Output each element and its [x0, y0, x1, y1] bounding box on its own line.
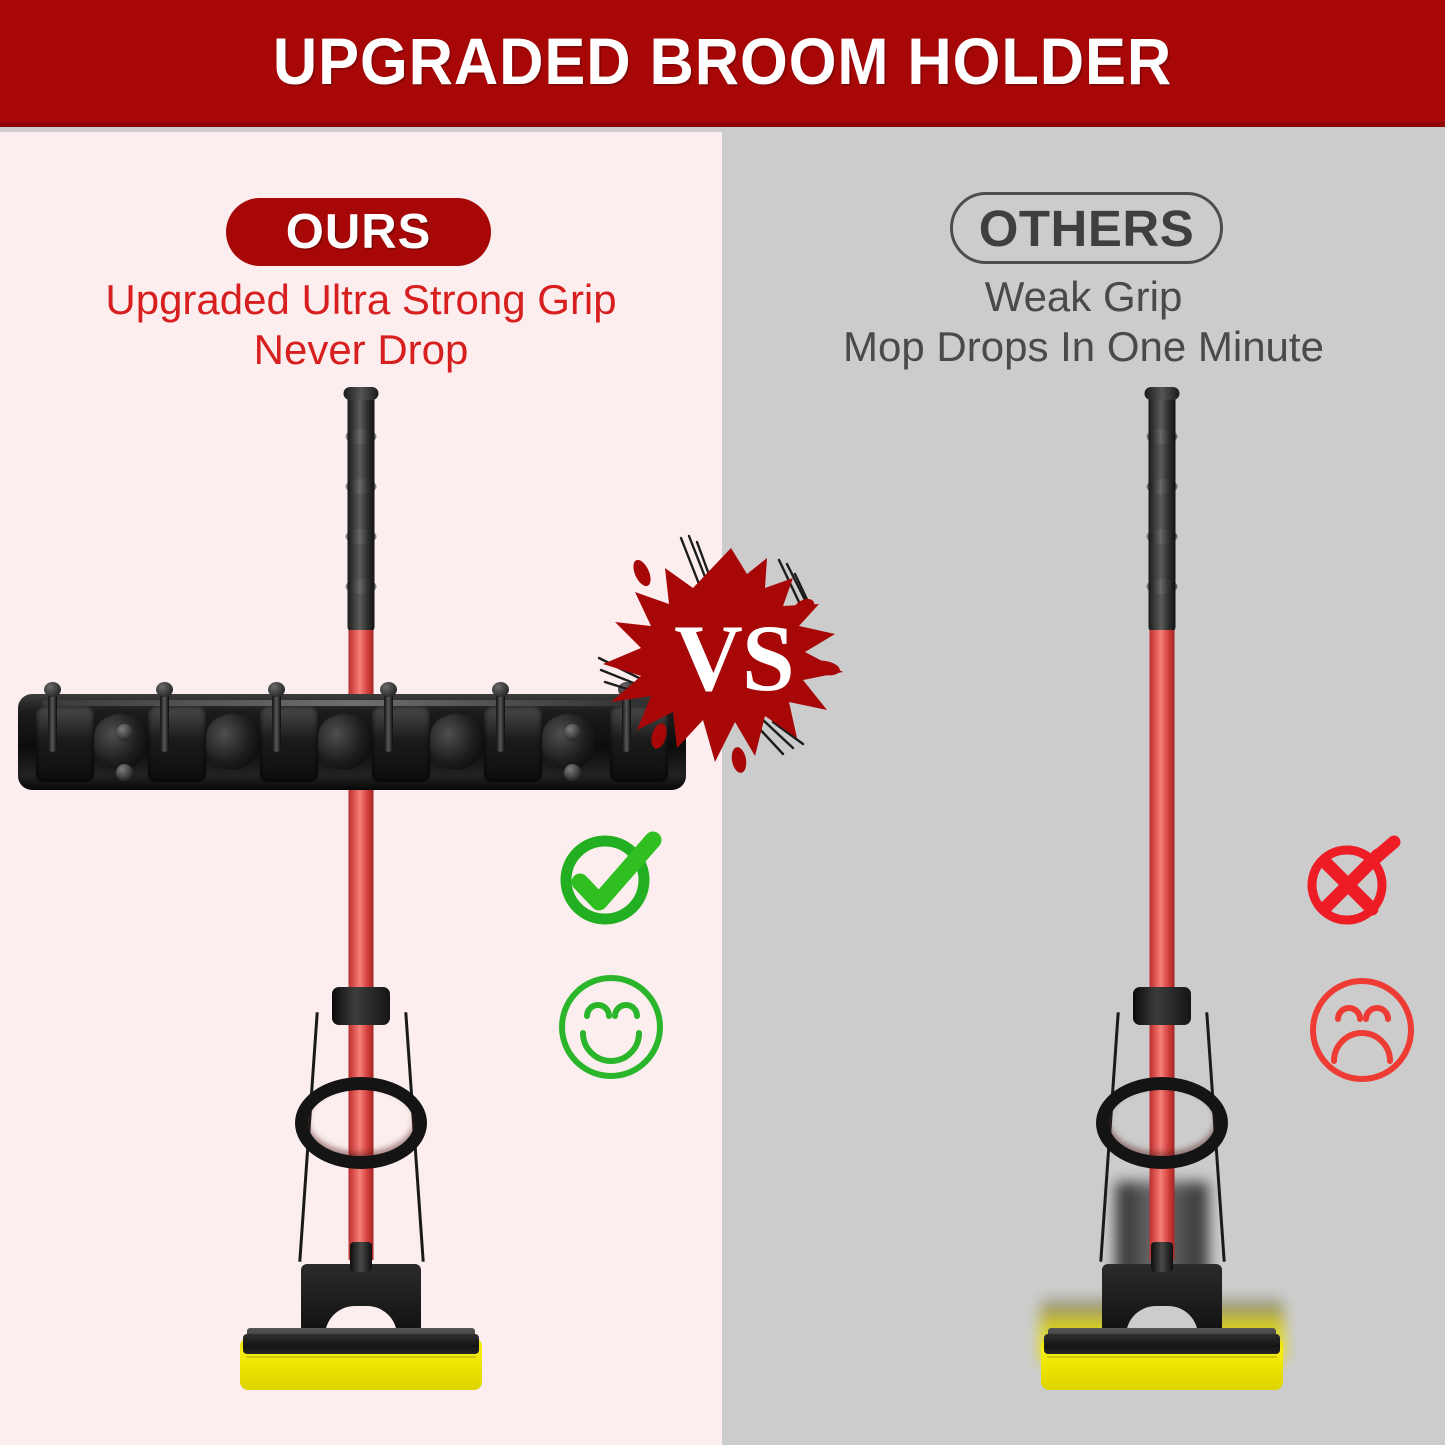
mop-head-bracket: [350, 1242, 372, 1272]
cross-circle-icon: [1302, 832, 1402, 932]
subtitle-others: Weak Grip Mop Drops In One Minute: [722, 272, 1445, 372]
vs-label: VS: [597, 530, 865, 782]
subtitle-others-line2: Mop Drops In One Minute: [722, 322, 1445, 372]
mop-grip: [1149, 387, 1176, 632]
badge-ours-label: OURS: [286, 204, 432, 260]
mop-head: [1012, 1242, 1312, 1417]
check-circle-icon: [552, 822, 662, 932]
mop-head-bracket: [1151, 1242, 1173, 1272]
black-broom-holder-rail: [18, 680, 686, 795]
mop-squeegee: [1044, 1334, 1280, 1354]
subtitle-others-line1: Weak Grip: [722, 272, 1445, 322]
subtitle-ours: Upgraded Ultra Strong Grip Never Drop: [0, 275, 722, 375]
page-title: UPGRADED BROOM HOLDER: [273, 23, 1172, 99]
mop-grip: [348, 387, 375, 632]
badge-others: OTHERS: [950, 192, 1223, 264]
badge-others-label: OTHERS: [979, 199, 1195, 258]
mop-collar: [1133, 987, 1191, 1025]
happy-face-icon: [551, 967, 671, 1087]
mop-squeegee: [243, 1334, 479, 1354]
subtitle-ours-line2: Never Drop: [0, 325, 722, 375]
product-comparison-infographic: UPGRADED BROOM HOLDER OURS Upgraded Ultr…: [0, 0, 1445, 1445]
mop-ours: [211, 387, 511, 1417]
mop-others: [1012, 387, 1312, 1417]
comparison-panels: OURS Upgraded Ultra Strong Grip Never Dr…: [0, 132, 1445, 1445]
header-banner: UPGRADED BROOM HOLDER: [0, 0, 1445, 127]
mop-head-housing: [301, 1264, 421, 1336]
vs-burst: VS: [597, 530, 865, 782]
mop-head-housing: [1102, 1264, 1222, 1336]
subtitle-ours-line1: Upgraded Ultra Strong Grip: [0, 275, 722, 325]
badge-ours: OURS: [226, 198, 491, 266]
mop-head: [211, 1242, 511, 1417]
panel-ours: OURS Upgraded Ultra Strong Grip Never Dr…: [0, 132, 722, 1445]
mop-collar: [332, 987, 390, 1025]
panel-others: OTHERS Weak Grip Mop Drops In One Minute: [722, 132, 1445, 1445]
mop-ring: [295, 1077, 427, 1169]
mop-ring: [1096, 1077, 1228, 1169]
sad-face-icon: [1302, 970, 1422, 1090]
